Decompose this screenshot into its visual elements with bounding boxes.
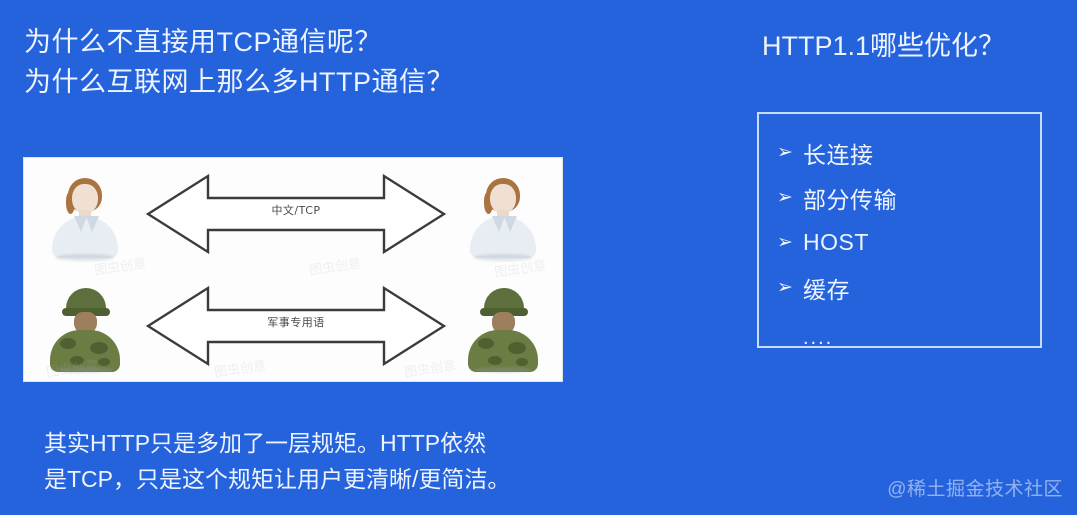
caption-block: 其实HTTP只是多加了一层规矩。HTTP依然 是TCP，只是这个规矩让用户更清晰…	[44, 425, 584, 497]
arrow-bullet-icon: ➢	[777, 143, 803, 162]
list-item-label: ....	[803, 327, 833, 350]
camo-patch	[488, 356, 502, 365]
list-item-label: HOST	[803, 229, 869, 256]
right-column: HTTP1.1哪些优化？ ➢ 长连接 ➢ 部分传输 ➢ HOST ➢ 缓存	[600, 0, 1077, 515]
soldier-avatar-left	[46, 280, 124, 372]
caption-line-2: 是TCP，只是这个规矩让用户更清晰/更简洁。	[44, 461, 584, 497]
arrow-bullet-icon: ➢	[777, 188, 803, 207]
communication-diagram-panel: 中文/TCP	[23, 157, 563, 382]
camo-patch	[90, 342, 108, 354]
camo-patch	[478, 338, 494, 349]
right-panel-title: HTTP1.1哪些优化？	[762, 27, 1005, 65]
avatar-shadow	[474, 367, 532, 373]
collar-right-shape	[86, 216, 99, 232]
list-item-label: 长连接	[803, 136, 874, 170]
civilian-avatar-left	[46, 168, 124, 260]
list-item-label: 缓存	[803, 271, 850, 305]
camo-patch	[516, 358, 528, 366]
site-watermark: @稀土掘金技术社区	[887, 474, 1063, 501]
arrow-label-civilian: 中文/TCP	[146, 202, 446, 218]
headline-line-2: 为什么互联网上那么多HTTP通信？	[24, 62, 564, 102]
list-item-label: 部分传输	[803, 181, 897, 215]
arrow-bullet-icon: ➢	[777, 233, 803, 252]
torso-shape	[468, 330, 538, 372]
double-arrow-military: 军事专用语	[146, 284, 446, 368]
optimizations-box: ➢ 长连接 ➢ 部分传输 ➢ HOST ➢ 缓存 ....	[757, 112, 1042, 348]
torso-shape	[50, 330, 120, 372]
camo-patch	[60, 338, 76, 349]
list-item-more: ....	[777, 310, 1027, 352]
avatar-shadow	[56, 367, 114, 373]
diagram-row-civilian: 中文/TCP	[24, 158, 563, 270]
avatar-shadow	[474, 254, 532, 261]
headline-block: 为什么不直接用TCP通信呢？ 为什么互联网上那么多HTTP通信？	[24, 22, 564, 102]
list-item-cache: ➢ 缓存	[777, 265, 1027, 310]
list-item-partial-transfer: ➢ 部分传输	[777, 175, 1027, 220]
caption-line-1: 其实HTTP只是多加了一层规矩。HTTP依然	[44, 425, 584, 461]
camo-patch	[98, 358, 110, 366]
double-arrow-civilian: 中文/TCP	[146, 172, 446, 256]
optimizations-list: ➢ 长连接 ➢ 部分传输 ➢ HOST ➢ 缓存 ....	[777, 130, 1027, 352]
arrow-bullet-icon: ➢	[777, 278, 803, 297]
slide-root: 为什么不直接用TCP通信呢？ 为什么互联网上那么多HTTP通信？	[0, 0, 1077, 515]
left-column: 为什么不直接用TCP通信呢？ 为什么互联网上那么多HTTP通信？	[0, 0, 600, 515]
camo-patch	[508, 342, 526, 354]
civilian-avatar-right	[464, 168, 542, 260]
collar-right-shape	[504, 216, 517, 232]
list-item-long-connection: ➢ 长连接	[777, 130, 1027, 175]
list-item-host: ➢ HOST	[777, 220, 1027, 265]
diagram-row-military: 军事专用语	[24, 270, 563, 382]
headline-line-1: 为什么不直接用TCP通信呢？	[24, 22, 564, 62]
camo-patch	[70, 356, 84, 365]
soldier-avatar-right	[464, 280, 542, 372]
avatar-shadow	[56, 254, 114, 261]
arrow-label-military: 军事专用语	[146, 314, 446, 330]
